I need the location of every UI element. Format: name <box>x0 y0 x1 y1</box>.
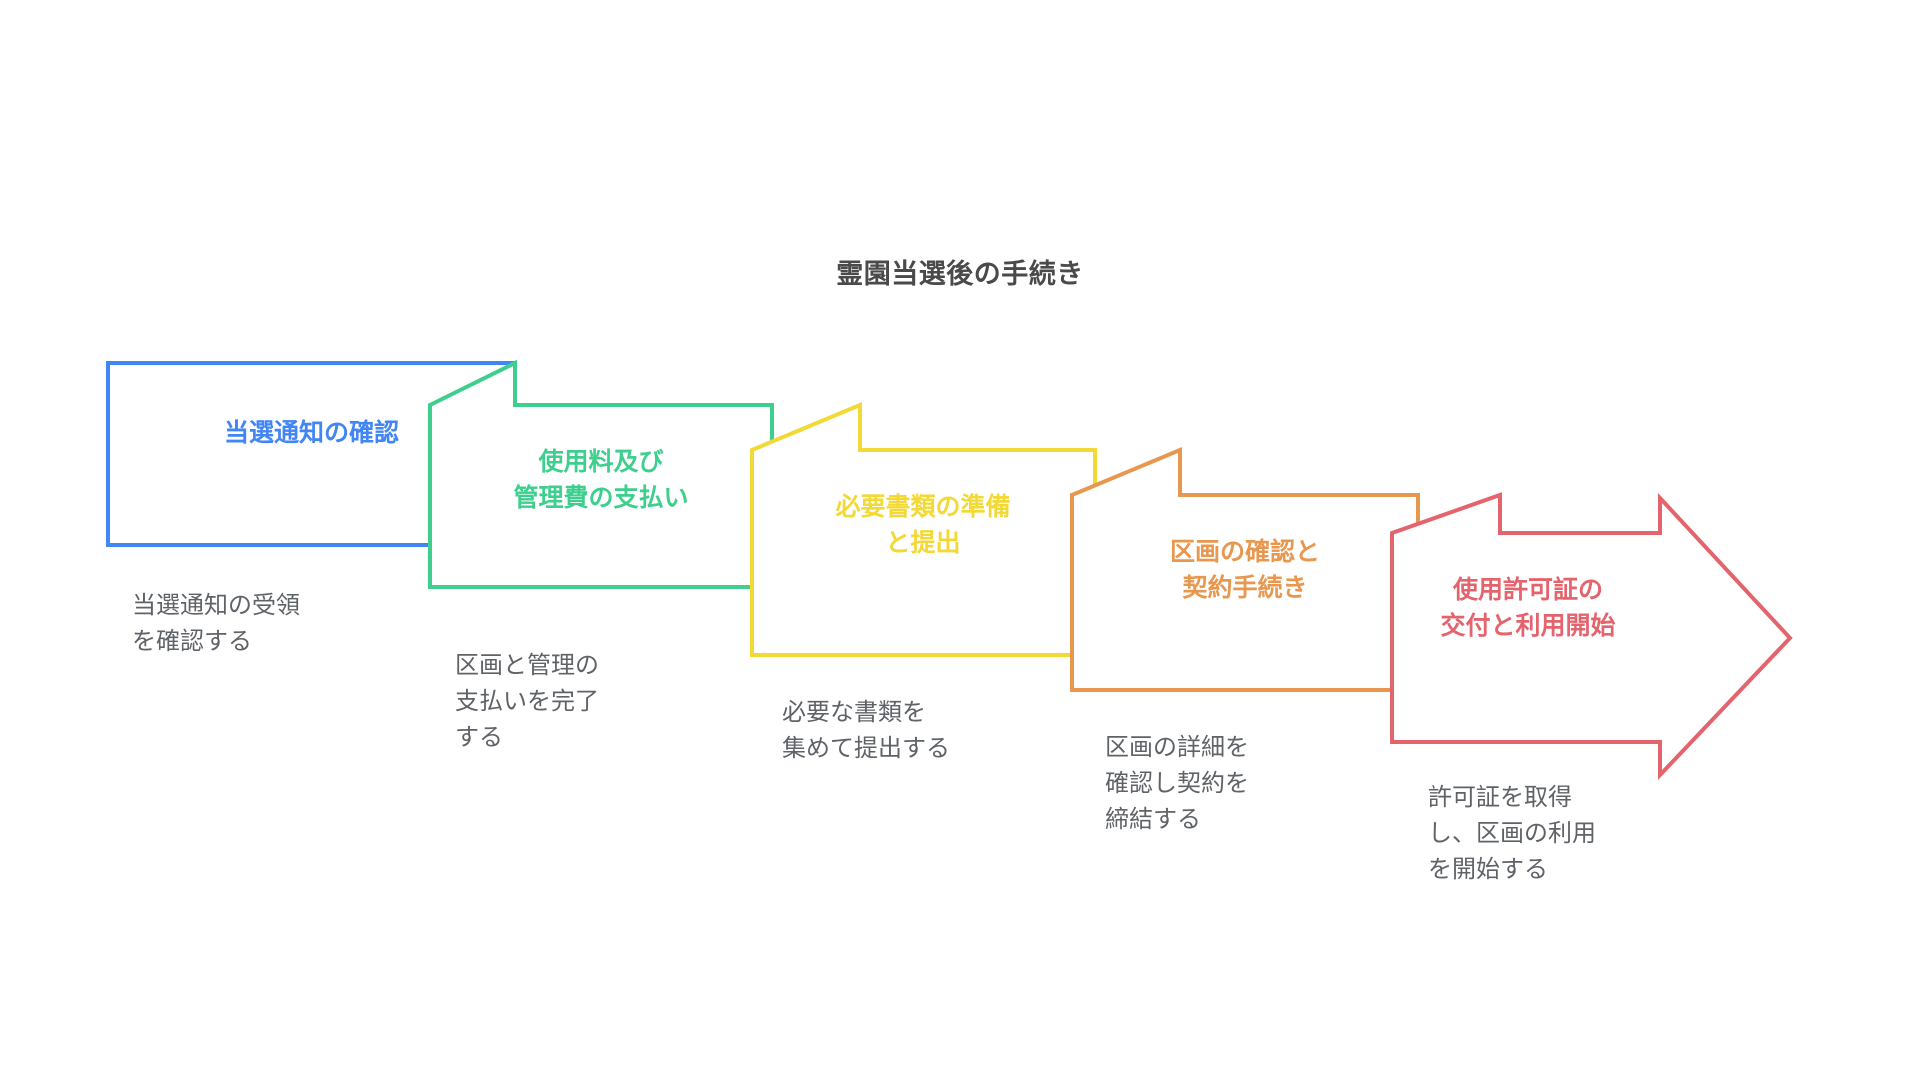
step-shape-4[interactable] <box>1072 450 1418 690</box>
step-caption-5: 許可証を取得 し、区画の利用 を開始する <box>1428 780 1748 888</box>
process-flow-svg <box>0 0 1920 1080</box>
diagram-canvas: 霊園当選後の手続き 当選通知の確認 使用料及び 管理費の支払い 必要書類の準備 … <box>0 0 1920 1080</box>
step-caption-3: 必要な書類を 集めて提出する <box>782 695 1102 767</box>
step-caption-2: 区画と管理の 支払いを完了 する <box>455 648 755 756</box>
step-shape-5[interactable] <box>1392 495 1790 775</box>
step-caption-1: 当選通知の受領 を確認する <box>132 588 432 660</box>
step-shape-3[interactable] <box>752 405 1095 655</box>
step-shape-2[interactable] <box>430 363 772 587</box>
step-caption-4: 区画の詳細を 確認し契約を 締結する <box>1105 730 1405 838</box>
